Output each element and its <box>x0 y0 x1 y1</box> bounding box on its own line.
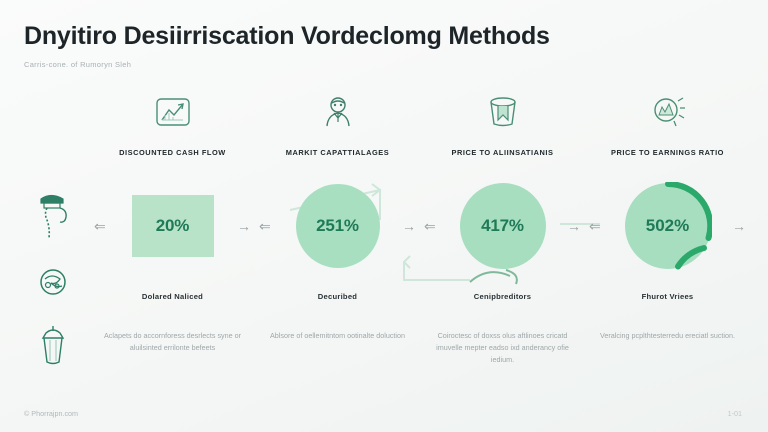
faucet-icon <box>22 186 84 250</box>
value-cell-0: ⇐ 20% → <box>90 178 255 274</box>
page-subtitle: Carris-cone. of Rumoryn Sleh <box>24 60 550 69</box>
infographic-page: Dnyitiro Desiirriscation Vordeclomg Meth… <box>0 0 768 432</box>
subheading: Dolared Naliced <box>90 292 255 301</box>
footer-copyright: © Phorrajpn.com <box>24 409 78 418</box>
value-row: ⇐ 20% → ⇐ 251% → ⇐ 417% → ⇐ 502% → <box>90 178 750 274</box>
emblem-icon <box>22 250 84 314</box>
value-badge-square: 20% <box>132 195 214 257</box>
value-cell-3: ⇐ 502% → <box>585 178 750 274</box>
person-icon <box>321 88 355 136</box>
bucket-icon <box>486 88 520 136</box>
column-label: PRICE TO ALIINSATIANIS <box>452 148 554 157</box>
column-label: PRICE TO EARNINGS RATIO <box>611 148 724 157</box>
subheading: Fhurot Vriees <box>585 292 750 301</box>
body-text: Coiroctesc of doxss olus aftlinoes crica… <box>420 330 585 366</box>
value-badge-donut: 502% <box>624 182 712 270</box>
column-headers: DISCOUNTED CASH FLOW MARKIT CAPATTIALAGE… <box>90 88 750 157</box>
value-badge-circle: 417% <box>460 183 546 269</box>
arrow-left-icon: ⇐ <box>94 219 106 233</box>
body-text: Ablsore of oellemitntom ootinalte doluct… <box>255 330 420 366</box>
body-text: Aclapets do accornforess desrlects syne … <box>90 330 255 366</box>
footer-page-number: 1-01 <box>728 409 742 418</box>
arrow-left-icon: ⇐ <box>259 219 271 233</box>
value-cell-2: ⇐ 417% → <box>420 178 585 274</box>
arrow-right-icon: → <box>237 219 251 233</box>
left-rail <box>22 186 84 378</box>
value-cell-1: ⇐ 251% → <box>255 178 420 274</box>
arrow-left-icon: ⇐ <box>424 219 436 233</box>
page-title: Dnyitiro Desiirriscation Vordeclomg Meth… <box>24 22 550 51</box>
value-badge-circle: 251% <box>296 184 380 268</box>
subheading: Cenipbreditors <box>420 292 585 301</box>
arrow-right-icon: → <box>567 219 581 233</box>
column-3: PRICE TO EARNINGS RATIO <box>585 88 750 157</box>
chart-frame-icon <box>155 88 191 136</box>
lamp-icon <box>22 314 84 378</box>
header: Dnyitiro Desiirriscation Vordeclomg Meth… <box>24 22 550 69</box>
arrow-right-icon: → <box>402 219 416 233</box>
body-row: Aclapets do accornforess desrlects syne … <box>90 330 750 366</box>
arrow-right-icon: → <box>732 219 746 233</box>
sun-burst-icon <box>650 88 686 136</box>
column-label: MARKIT CAPATTIALAGES <box>286 148 390 157</box>
column-2: PRICE TO ALIINSATIANIS <box>420 88 585 157</box>
body-text: Veralcing pcplthtesterredu ereciatl suct… <box>585 330 750 366</box>
subheading: Decuribed <box>255 292 420 301</box>
column-label: DISCOUNTED CASH FLOW <box>119 148 226 157</box>
donut-value: 502% <box>624 182 712 270</box>
subheading-row: Dolared Naliced Decuribed Cenipbreditors… <box>90 292 750 301</box>
column-0: DISCOUNTED CASH FLOW <box>90 88 255 157</box>
arrow-left-icon: ⇐ <box>589 219 601 233</box>
column-1: MARKIT CAPATTIALAGES <box>255 88 420 157</box>
